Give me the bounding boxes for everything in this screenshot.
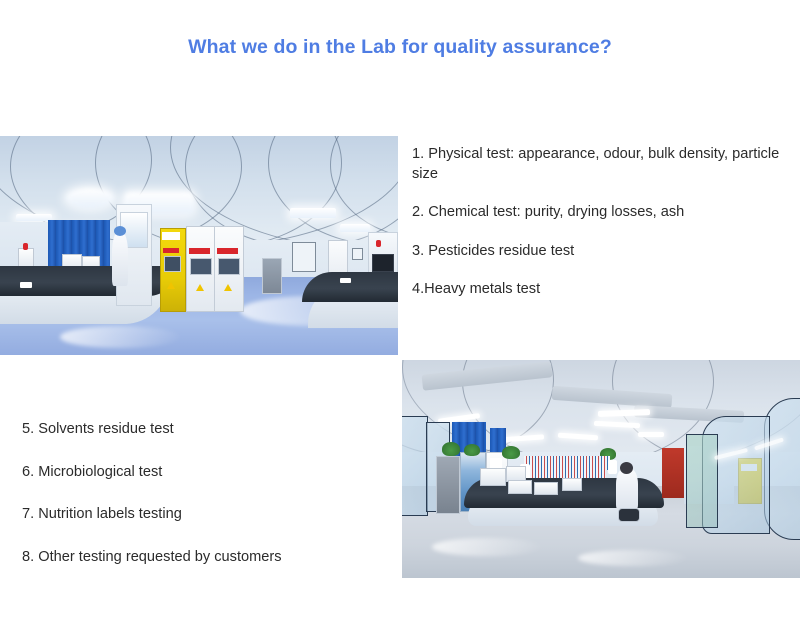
potted-plant bbox=[442, 442, 460, 456]
cabinet-window bbox=[164, 256, 181, 272]
gas-cabinet-warning-label bbox=[217, 248, 238, 254]
cabinet-warning-label bbox=[163, 248, 179, 253]
floor-reflection bbox=[578, 550, 688, 566]
analytical-balance bbox=[508, 480, 532, 494]
laboratory-panorama-analysis-room-image bbox=[402, 360, 800, 578]
list-item: 4.Heavy metals test bbox=[412, 280, 800, 300]
ceiling-tube-light bbox=[638, 432, 664, 437]
glass-partition bbox=[402, 416, 428, 516]
reagent-bottles bbox=[524, 456, 610, 470]
ceiling-light bbox=[340, 224, 370, 232]
ceiling-light bbox=[16, 214, 52, 221]
computer-monitor bbox=[372, 254, 394, 272]
gas-cabinet-warning-label bbox=[189, 248, 210, 254]
quality-test-list-right: 1. Physical test: appearance, odour, bul… bbox=[412, 145, 800, 319]
red-indicator bbox=[23, 243, 28, 250]
ceiling-light bbox=[66, 188, 114, 208]
storage-cabinet bbox=[436, 456, 460, 514]
lab-instrument bbox=[562, 478, 582, 491]
potted-plant bbox=[502, 446, 520, 459]
warning-triangle-icon bbox=[196, 284, 204, 291]
bench-item bbox=[340, 278, 351, 283]
technician-head bbox=[620, 462, 633, 474]
gas-cabinet-window bbox=[218, 258, 240, 275]
bench-item bbox=[20, 282, 32, 288]
panorama-scene-analysis-room bbox=[402, 360, 800, 578]
warning-triangle-icon bbox=[167, 282, 175, 289]
lab-instrument bbox=[480, 468, 506, 486]
wall-notice bbox=[352, 248, 363, 260]
potted-plant bbox=[464, 444, 480, 456]
glassware bbox=[608, 460, 617, 474]
cabinet-label bbox=[162, 232, 180, 240]
lab-stool bbox=[618, 508, 640, 522]
glass-door bbox=[686, 434, 718, 528]
ceiling-light bbox=[290, 208, 336, 218]
panorama-scene-instrument-room bbox=[0, 136, 398, 355]
door bbox=[662, 448, 684, 498]
red-indicator bbox=[376, 240, 381, 247]
floor-reflection bbox=[432, 538, 542, 556]
laboratory-panorama-instrument-room-image bbox=[0, 136, 398, 355]
warning-triangle-icon bbox=[224, 284, 232, 291]
floor-reflection bbox=[60, 326, 180, 348]
wall-picture-frame bbox=[292, 242, 316, 272]
storage-cabinet bbox=[262, 258, 282, 294]
lab-technician bbox=[616, 468, 638, 510]
analytical-balance bbox=[534, 482, 558, 495]
technician-cap bbox=[114, 226, 126, 236]
list-item: 7. Nutrition labels testing bbox=[22, 505, 392, 525]
list-item: 1. Physical test: appearance, odour, bul… bbox=[412, 145, 800, 184]
list-item: 8. Other testing requested by customers bbox=[22, 548, 392, 568]
gas-cabinet-window bbox=[190, 258, 212, 275]
list-item: 5. Solvents residue test bbox=[22, 420, 392, 440]
list-item: 3. Pesticides residue test bbox=[412, 242, 800, 262]
quality-test-list-bottom-left: 5. Solvents residue test 6. Microbiologi… bbox=[22, 420, 392, 590]
list-item: 2. Chemical test: purity, drying losses,… bbox=[412, 203, 800, 223]
list-item: 6. Microbiological test bbox=[22, 463, 392, 483]
page-title: What we do in the Lab for quality assura… bbox=[0, 36, 800, 59]
lab-bench-top bbox=[302, 272, 398, 302]
lab-technician bbox=[112, 232, 128, 286]
